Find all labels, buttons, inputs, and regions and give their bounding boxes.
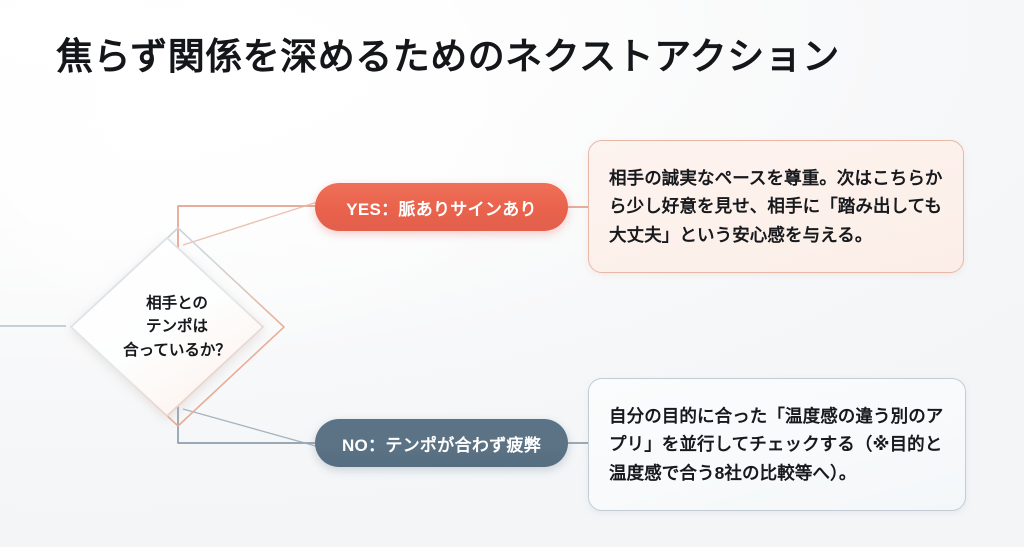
branch-pill-no-label: NO：テンポが合わず疲弊 — [342, 431, 541, 456]
action-card-no-text: 自分の目的に合った「温度感の違う別のアプリ」を並行してチェックする（※目的と温度… — [609, 402, 945, 487]
slide-canvas: 焦らず関係を深めるためのネクストアクション — [0, 0, 1024, 547]
decision-label: 相手との テンポは 合っているか？ — [63, 292, 291, 362]
decision-node[interactable]: 相手との テンポは 合っているか？ — [63, 222, 291, 432]
action-card-no[interactable]: 自分の目的に合った「温度感の違う別のアプリ」を並行してチェックする（※目的と温度… — [588, 378, 966, 511]
action-card-yes-text: 相手の誠実なペースを尊重。次はこちらから少し好意を見せ、相手に「踏み出しても大丈… — [609, 164, 943, 249]
branch-pill-yes[interactable]: YES：脈ありサインあり — [315, 183, 568, 231]
action-card-yes[interactable]: 相手の誠実なペースを尊重。次はこちらから少し好意を見せ、相手に「踏み出しても大丈… — [588, 140, 964, 273]
branch-pill-yes-label: YES：脈ありサインあり — [346, 195, 537, 220]
branch-pill-no[interactable]: NO：テンポが合わず疲弊 — [315, 419, 568, 467]
